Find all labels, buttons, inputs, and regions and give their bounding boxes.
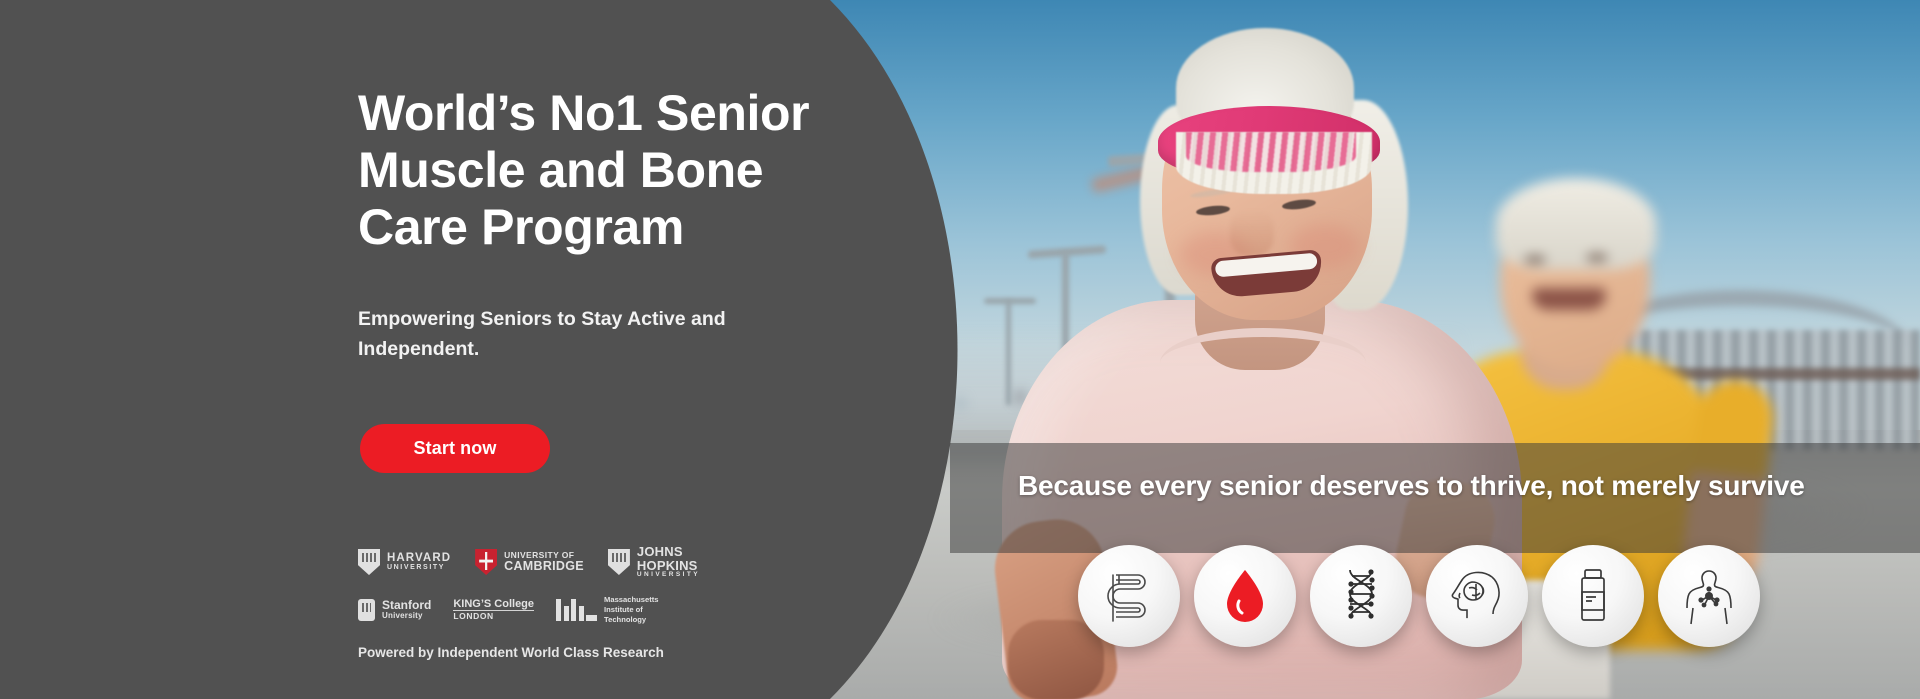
harvard-wordmark: HARVARD UNIVERSITY xyxy=(387,552,451,571)
page-title: World’s No1 Senior Muscle and Bone Care … xyxy=(358,85,878,256)
harvard-line1: HARVARD xyxy=(387,552,451,564)
man-smile xyxy=(1532,288,1606,310)
cambridge-wordmark: UNIVERSITY OF CAMBRIDGE xyxy=(504,551,584,573)
stanford-wordmark: Stanford University xyxy=(382,599,431,620)
cambridge-shield-icon xyxy=(475,549,497,575)
logo-kings-college-london: KING’S College LONDON xyxy=(453,599,534,621)
logo-mit: Massachusetts Institute of Technology xyxy=(556,595,658,625)
harvard-line2: UNIVERSITY xyxy=(387,564,451,571)
dna-icon[interactable] xyxy=(1310,545,1412,647)
body-metabolism-icon[interactable] xyxy=(1658,545,1760,647)
kcl-line1: KING’S College xyxy=(453,599,534,611)
mit-wordmark: Massachusetts Institute of Technology xyxy=(604,595,658,625)
johns-hopkins-line1: JOHNS HOPKINS xyxy=(637,545,718,572)
kcl-line2: LONDON xyxy=(453,610,534,621)
tagline-text: Because every senior deserves to thrive,… xyxy=(1018,470,1898,502)
woman-nose xyxy=(1230,210,1274,256)
johns-hopkins-wordmark: JOHNS HOPKINS UNIVERSITY xyxy=(637,545,718,579)
kcl-wordmark: KING’S College LONDON xyxy=(453,599,534,621)
mit-bars-icon xyxy=(556,599,597,621)
hero-content: World’s No1 Senior Muscle and Bone Care … xyxy=(358,0,878,699)
woman-collar xyxy=(1160,328,1366,398)
stanford-tree-icon xyxy=(358,599,375,621)
logo-cambridge: UNIVERSITY OF CAMBRIDGE xyxy=(475,549,584,575)
logo-stanford: Stanford University xyxy=(358,599,431,621)
mit-line1: Massachusetts xyxy=(604,595,658,605)
university-logo-group: HARVARD UNIVERSITY UNIVERSITY OF CAMBRID… xyxy=(358,545,718,641)
cambridge-line2: CAMBRIDGE xyxy=(504,560,584,573)
logo-row-1: HARVARD UNIVERSITY UNIVERSITY OF CAMBRID… xyxy=(358,545,718,579)
harvard-shield-icon xyxy=(358,549,380,575)
stanford-line2: University xyxy=(382,612,431,620)
brain-icon[interactable] xyxy=(1426,545,1528,647)
logo-harvard: HARVARD UNIVERSITY xyxy=(358,549,451,575)
powered-by-text: Powered by Independent World Class Resea… xyxy=(358,645,664,660)
intestine-icon[interactable] xyxy=(1078,545,1180,647)
supplement-bottle-icon[interactable] xyxy=(1542,545,1644,647)
health-icon-row xyxy=(1078,545,1760,647)
man-eye-right xyxy=(1586,254,1608,261)
page-subtitle: Empowering Seniors to Stay Active and In… xyxy=(358,305,778,364)
blood-drop-icon[interactable] xyxy=(1194,545,1296,647)
johns-hopkins-line2: UNIVERSITY xyxy=(637,572,718,579)
woman-pink-highlights xyxy=(1186,132,1356,172)
johns-hopkins-shield-icon xyxy=(608,549,630,575)
woman-teeth xyxy=(1215,253,1318,278)
mit-line3: Technology xyxy=(604,615,658,625)
mit-line2: Institute of xyxy=(604,605,658,615)
logo-row-2: Stanford University KING’S College LONDO… xyxy=(358,595,718,625)
logo-johns-hopkins: JOHNS HOPKINS UNIVERSITY xyxy=(608,545,718,579)
hero-banner: World’s No1 Senior Muscle and Bone Care … xyxy=(0,0,1920,699)
start-now-button[interactable]: Start now xyxy=(360,424,550,473)
